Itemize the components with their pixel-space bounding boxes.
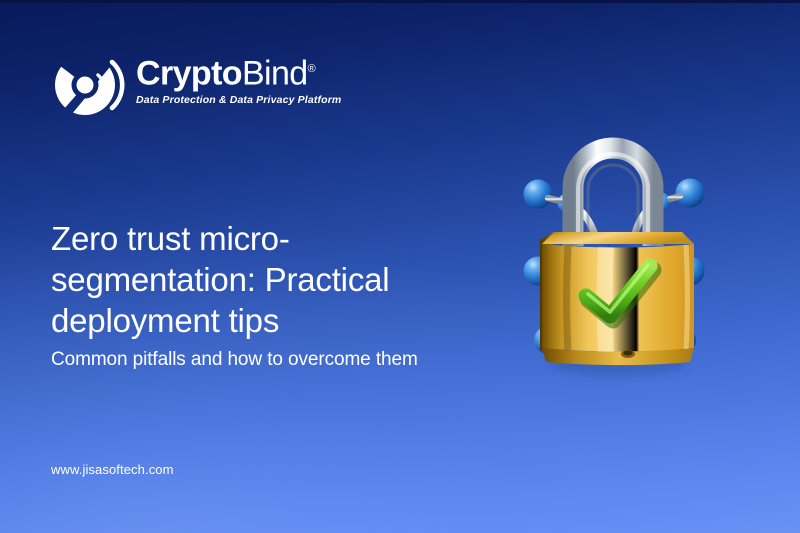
page-subtitle: Common pitfalls and how to overcome them [51,347,491,373]
brand-wordmark-group: CryptoBind® Data Protection & Data Priva… [136,49,336,106]
registered-trademark-symbol: ® [308,63,316,75]
cryptobind-circular-mark-icon [52,47,128,123]
shackle-icon [573,148,653,246]
keyhole-icon [621,350,635,358]
brand-wordmark: CryptoBind® [136,49,336,93]
brand-tagline: Data Protection & Data Privacy Platform [136,94,336,106]
top-edge-line [0,0,800,3]
wordmark-crypto: Crypto [136,54,242,92]
wordmark-bind: Bind [242,54,308,92]
brand-logo[interactable]: CryptoBind® Data Protection & Data Priva… [52,45,332,127]
page-title: Zero trust micro-segmentation: Practical… [51,218,451,341]
banner-canvas: CryptoBind® Data Protection & Data Priva… [0,0,800,533]
website-url[interactable]: www.jisasoftech.com [51,462,174,477]
padlock-network-illustration [468,126,758,388]
